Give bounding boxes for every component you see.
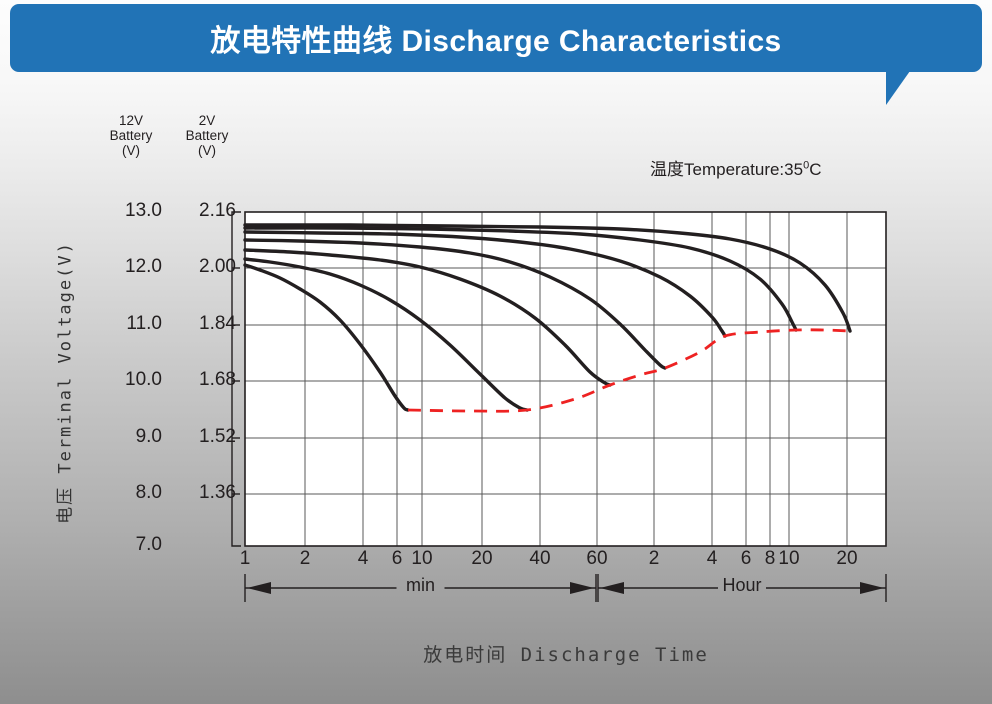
x-axis-section-bars <box>245 574 886 602</box>
voltage-scale-bracket <box>232 212 241 546</box>
x-section-label-hour: Hour <box>716 575 768 596</box>
plot-background <box>245 212 886 546</box>
plot-canvas <box>0 0 992 704</box>
x-section-label-min: min <box>395 575 447 596</box>
discharge-characteristics-chart: 12V Battery (V) 2V Battery (V) 温度Tempera… <box>0 0 992 704</box>
axis-scale-brackets <box>232 212 241 546</box>
page-root: 放电特性曲线 Discharge Characteristics 12V Bat… <box>0 0 992 704</box>
